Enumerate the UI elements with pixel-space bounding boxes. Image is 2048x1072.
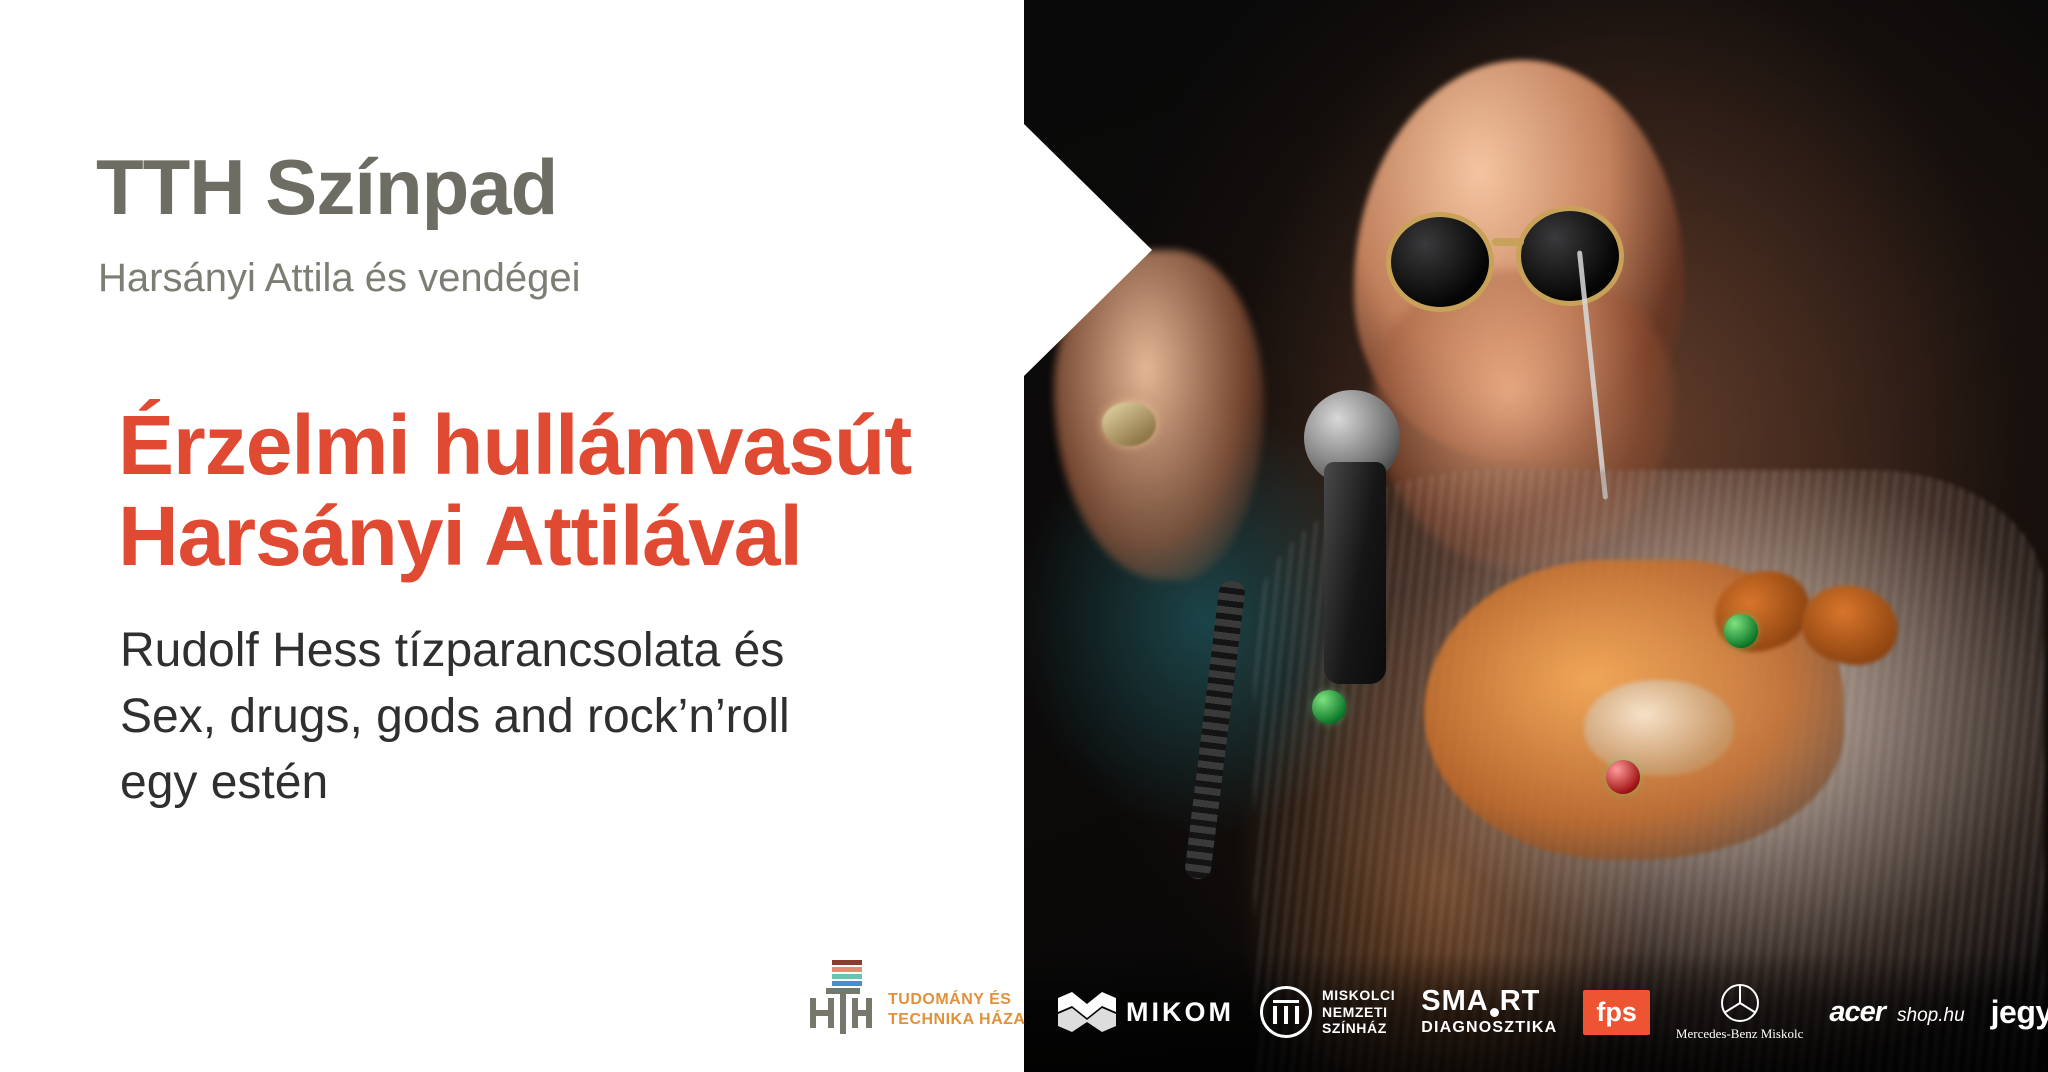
smart-bottom-label: DIAGNOSZTIKA [1421,1019,1557,1037]
sponsor-mikom[interactable]: MIKOM [1058,992,1234,1032]
sponsor-fps-label: fps [1583,990,1650,1035]
sunglasses-right-lens [1516,206,1624,306]
mnsz-line-3: SZÍNHÁZ [1322,1020,1395,1037]
sponsor-mercedes-label: Mercedes-Benz Miskolc [1676,1026,1803,1042]
sunglasses-left-lens [1386,212,1494,312]
event-headline: Érzelmi hullámvasút Harsányi Attilával [118,400,998,581]
page-title: TTH Színpad [96,148,557,226]
jegy-main-label: jegy [1991,994,2048,1031]
theatre-circle-mark-icon [1260,986,1312,1038]
theatre-glyph-icon [1271,998,1301,1026]
mnsz-line-1: MISKOLCI [1322,987,1395,1004]
acer-sub-label: shop.hu [1897,1005,1965,1027]
event-headline-line-2: Harsányi Attilával [118,491,998,582]
tth-stripe-3 [832,974,862,979]
event-description: Rudolf Hess tízparancsolata és Sex, drug… [120,618,1000,817]
info-panel: TTH Színpad Harsányi Attila és vendégei … [0,0,1024,1072]
sponsor-fps[interactable]: fps [1583,990,1650,1035]
smart-dot-accent [1490,1008,1499,1017]
sponsor-bar: MIKOM MISKOLCI NEMZETI SZÍNHÁZ [1024,952,2048,1072]
event-headline-line-1: Érzelmi hullámvasút [118,400,998,491]
tth-logo[interactable]: TUDOMÁNY ÉS TECHNIKA HÁZA [800,960,1010,1050]
sponsor-miskolci-nemzeti-szinhaz[interactable]: MISKOLCI NEMZETI SZÍNHÁZ [1260,986,1395,1038]
sponsor-jegy-hu[interactable]: jegy.hu [1991,994,2048,1031]
mnsz-line-2: NEMZETI [1322,1004,1395,1021]
puppet-bauble-red [1606,760,1640,794]
event-description-line-1: Rudolf Hess tízparancsolata és [120,618,1000,684]
sunglasses-bridge [1492,238,1524,246]
performer-photo: MIKOM MISKOLCI NEMZETI SZÍNHÁZ [1024,0,2048,1072]
sponsor-acershop[interactable]: acer shop.hu [1829,996,1964,1029]
tth-stripe-1 [832,960,862,965]
puppet-bauble-green-right [1724,614,1758,648]
smart-top-label: SMART [1421,987,1557,1016]
tth-monogram-icon [806,988,876,1034]
tth-stripe-2 [832,967,862,972]
tth-stripe-4 [832,981,862,986]
page-subtitle: Harsányi Attila és vendégei [98,258,581,298]
sponsor-smart-diagnosztika[interactable]: SMART DIAGNOSZTIKA [1421,987,1557,1037]
tth-logo-wordmark: TUDOMÁNY ÉS TECHNIKA HÁZA [888,990,1025,1030]
event-description-line-2: Sex, drugs, gods and rock’n’roll [120,684,1000,750]
tth-logo-line-1: TUDOMÁNY ÉS [888,990,1025,1010]
smart-word: SMART [1421,987,1540,1016]
sponsor-mikom-label: MIKOM [1126,997,1234,1028]
puppet-bauble-green-left [1312,690,1346,724]
sponsor-mercedes-benz-miskolc[interactable]: Mercedes-Benz Miskolc [1676,983,1803,1042]
tth-logo-line-2: TECHNIKA HÁZA [888,1010,1025,1030]
performer-ring [1102,402,1156,446]
puppet-snout [1584,680,1734,776]
event-poster: MIKOM MISKOLCI NEMZETI SZÍNHÁZ [0,0,2048,1072]
acer-main-label: acer [1829,996,1885,1029]
sponsor-mnsz-label: MISKOLCI NEMZETI SZÍNHÁZ [1322,987,1395,1037]
event-description-line-3: egy estén [120,750,1000,816]
tth-stripe-stack-icon [832,960,862,986]
mercedes-star-icon [1720,983,1760,1023]
microphone-body [1324,462,1386,684]
mikom-chevron-mark-icon [1058,992,1116,1032]
